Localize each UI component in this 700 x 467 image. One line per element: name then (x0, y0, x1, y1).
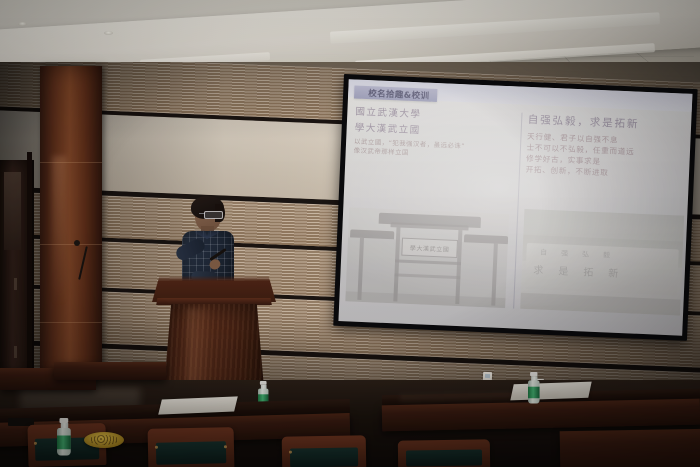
downlight-icon (104, 31, 113, 35)
slide-photo-gate: 學大漢武立國 (345, 207, 509, 308)
slide-photo-stone: 自强弘毅 求是拓新 (520, 209, 684, 316)
side-table (54, 362, 166, 380)
screen-surface: 校名拾趣&校训 國立武漢大學 學大漢武立國 以武立國，“犯我强汉者，虽远必诛” … (338, 79, 692, 335)
slide-title-bar: 校名拾趣&校训 (354, 85, 438, 102)
conference-chair[interactable] (282, 435, 367, 467)
conference-chair[interactable] (148, 427, 235, 467)
presentation-slide: 校名拾趣&校训 國立武漢大學 學大漢武立國 以武立國，“犯我强汉者，虽远必诛” … (338, 79, 692, 335)
presentation-room-photo: 校名拾趣&校训 國立武漢大學 學大漢武立國 以武立國，“犯我强汉者，虽远必诛” … (0, 0, 700, 467)
gate-plaque-text: 學大漢武立國 (410, 242, 450, 253)
screen-frame: 校名拾趣&校训 國立武漢大學 學大漢武立國 以武立國，“犯我强汉者，虽远必诛” … (333, 74, 697, 341)
gate-plaque: 學大漢武立國 (401, 238, 458, 258)
downlight-icon (18, 22, 27, 26)
slide-title: 校名拾趣&校训 (368, 87, 430, 102)
projection-screen: 校名拾趣&校训 國立武漢大學 學大漢武立國 以武立國，“犯我强汉者，虽远必诛” … (333, 74, 697, 341)
door-frame (27, 152, 32, 392)
slide-right-column: 自强弘毅，求是拓新 天行健、君子以自强不息 士不可以不弘毅，任重而道远 修学好古… (525, 113, 682, 182)
woven-basket[interactable] (84, 432, 124, 448)
eyeglasses-icon (204, 211, 223, 219)
conference-chair[interactable] (398, 439, 490, 467)
microphone-head (74, 240, 80, 246)
door-glass-panel (4, 172, 21, 250)
front-table-right (560, 429, 700, 467)
slide-left-column: 國立武漢大學 學大漢武立國 以武立國，“犯我强汉者，虽远必诛” 像汉武帝那样立国 (354, 106, 518, 162)
wall-column (40, 66, 102, 386)
lectern-lip (155, 298, 273, 305)
